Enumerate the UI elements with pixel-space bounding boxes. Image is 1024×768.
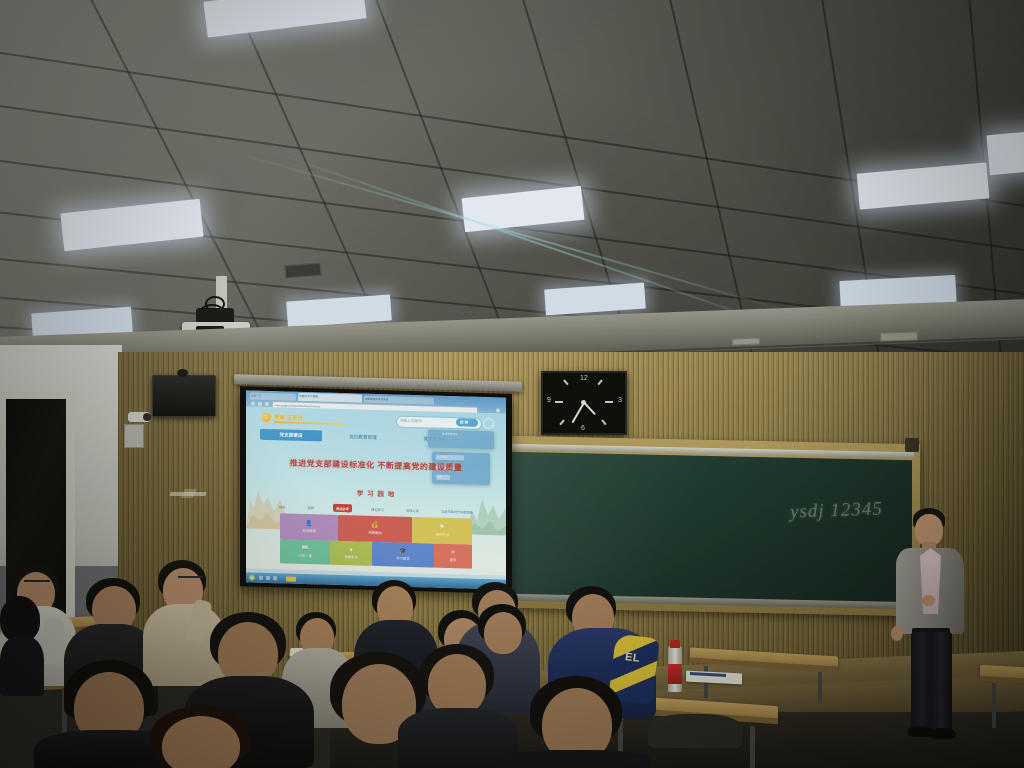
camera-lens xyxy=(143,413,151,421)
presenter-shoe-right xyxy=(930,728,956,739)
category-link[interactable]: 首页 xyxy=(276,504,288,509)
clock-tick xyxy=(563,379,568,385)
tile-card[interactable]: 👤 党员管理 xyxy=(280,513,338,541)
decor-right-scenery xyxy=(466,477,506,536)
flag-icon: ⚑ xyxy=(439,525,444,532)
blackboard xyxy=(510,452,912,608)
tile-card[interactable]: ☀ 更多 xyxy=(434,544,472,569)
browser-tab[interactable]: 支部建设标准化平台 xyxy=(364,395,434,404)
nav-tab-active[interactable]: 党支部建设 xyxy=(260,429,322,442)
party-emblem-icon xyxy=(262,413,271,422)
grid-icon: ☀ xyxy=(450,550,455,557)
presenter-leg-right xyxy=(930,632,952,734)
website-body: 党建 云平台 请输入关键词 搜 索 党支部建设 党员教育管理 党建信息化 账号登… xyxy=(246,406,506,575)
cap-icon: 🎓 xyxy=(399,549,406,556)
bottle-cap xyxy=(670,640,680,648)
soffit-vent xyxy=(732,338,760,346)
wall-junction-box xyxy=(124,424,144,448)
category-link[interactable]: 理论学习 xyxy=(368,506,387,512)
clock-tick xyxy=(559,419,564,425)
blackboard-chalk-text: ysdj 12345 xyxy=(790,498,884,523)
ceiling-vent xyxy=(285,263,322,278)
taskbar-window-button[interactable] xyxy=(286,576,296,581)
presenter-hand-raised xyxy=(922,595,935,606)
clock-tick xyxy=(597,379,602,385)
clock-tick xyxy=(605,401,613,403)
tile-label: 党员管理 xyxy=(302,528,316,533)
popup-menu-label: 退出 xyxy=(437,475,442,479)
blackboard-glare xyxy=(510,452,912,608)
start-icon[interactable] xyxy=(249,574,255,580)
door-frame xyxy=(66,392,75,650)
jacket-text: EL xyxy=(624,651,640,665)
account-popup xyxy=(428,429,494,449)
search-placeholder: 请输入关键词 xyxy=(400,418,422,424)
student-desk xyxy=(980,668,1024,728)
clock-number-3: 3 xyxy=(618,397,622,404)
clock-minute-hand xyxy=(572,403,585,424)
user-icon: 👤 xyxy=(305,521,312,528)
clock-center-pin xyxy=(581,400,586,405)
logo-underline xyxy=(274,421,346,425)
nav-tab[interactable]: 党员教育管理 xyxy=(332,431,394,444)
nav-tab-label: 党员教育管理 xyxy=(349,434,377,441)
tile-label: 党费缴纳 xyxy=(368,530,382,535)
clock-number-12: 12 xyxy=(580,375,588,382)
popup-menu-label: 个人中心 xyxy=(437,455,447,459)
category-link-hot[interactable]: 热点必读 xyxy=(333,504,352,513)
projection-screen: 百度一下 党建网 学习强国 支部建设标准化平台 www.zgdjy.cn/ind… xyxy=(246,390,506,589)
tile-card[interactable]: ⚑ 组织生活 xyxy=(412,517,472,545)
taskbar-icon[interactable] xyxy=(273,576,277,580)
menu-icon[interactable] xyxy=(496,408,500,412)
tile-label: 更多 xyxy=(450,557,457,562)
user-account-icon[interactable] xyxy=(483,418,494,429)
chair-back xyxy=(648,714,742,748)
tile-label: 组织生活 xyxy=(435,532,449,537)
nav-tab-label: 党支部建设 xyxy=(280,432,303,439)
presenter-hand-left xyxy=(891,626,903,641)
taskbar-icon[interactable] xyxy=(259,576,263,580)
popup-title: 账号登录提示 xyxy=(442,432,458,436)
tile-label: 学习教育 xyxy=(396,556,410,561)
tile-label: 党建考核 xyxy=(344,554,358,559)
blackboard-bracket xyxy=(905,438,919,452)
clock-number-6: 6 xyxy=(581,425,585,432)
category-link[interactable]: 党员必读 xyxy=(403,507,422,513)
tile-label: 三会一课 xyxy=(298,553,312,558)
bottle-label xyxy=(668,664,682,684)
tile-card[interactable]: 💰 党费缴纳 xyxy=(338,515,412,543)
presenter xyxy=(880,500,990,745)
door-frame xyxy=(2,392,72,399)
tile-card[interactable]: 📖 三会一课 xyxy=(280,539,330,564)
taskbar-icon[interactable] xyxy=(266,576,270,580)
search-button-label: 搜 索 xyxy=(460,420,468,425)
book-icon: 📖 xyxy=(301,546,308,553)
wall-clock: 12 3 6 9 xyxy=(541,371,627,435)
chart-icon: ● xyxy=(349,547,353,554)
reload-icon[interactable] xyxy=(265,402,269,406)
soffit-vent xyxy=(880,331,918,341)
arrow-left-icon[interactable] xyxy=(251,402,255,406)
category-link[interactable]: 习近平新时代中国特色 xyxy=(438,508,476,514)
glasses-icon xyxy=(178,576,202,582)
classroom-scene: 12 3 6 9 ysdj 12345 百度一下 党建网 学习强国 支部建设标准… xyxy=(0,0,1024,768)
browser-tab[interactable]: 百度一下 xyxy=(250,392,296,400)
arrow-right-icon[interactable] xyxy=(258,402,262,406)
wall-speaker xyxy=(152,375,216,417)
wallet-icon: 💰 xyxy=(371,523,378,530)
speaker-mount xyxy=(177,369,188,377)
clock-tick xyxy=(555,401,563,403)
tile-grid: 👤 党员管理 💰 党费缴纳 ⚑ 组织生活 📖 三会一课 ● 党建考核 xyxy=(280,513,472,568)
category-link[interactable]: 要闻 xyxy=(305,505,317,510)
glasses-icon xyxy=(24,580,50,587)
tile-card[interactable]: 🎓 学习教育 xyxy=(372,542,434,568)
clock-number-9: 9 xyxy=(547,397,551,404)
tile-card[interactable]: ● 党建考核 xyxy=(330,541,372,566)
clock-tick xyxy=(601,419,606,425)
